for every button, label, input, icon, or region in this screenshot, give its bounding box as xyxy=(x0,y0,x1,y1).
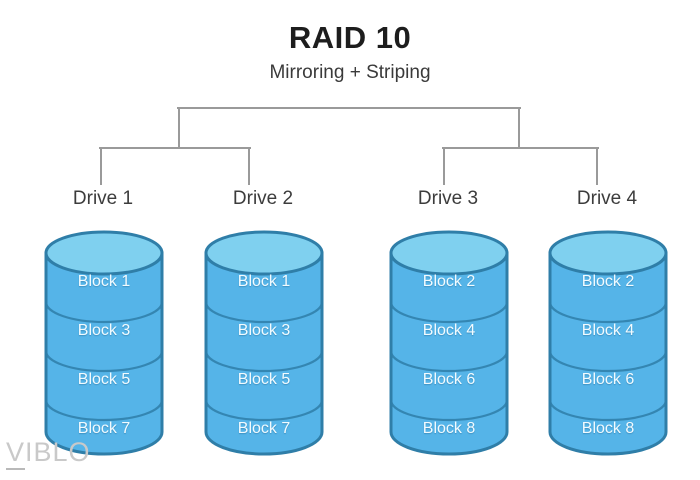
raid-diagram: RAID 10 Mirroring + Striping Drive 1 Dri… xyxy=(0,0,700,480)
diagram-subtitle: Mirroring + Striping xyxy=(0,62,700,84)
drive-cylinder-1: Block 1 Block 3 Block 5 Block 7 xyxy=(43,229,165,456)
block-label: Block 5 xyxy=(203,371,325,389)
block-label: Block 4 xyxy=(388,322,510,340)
block-label: Block 6 xyxy=(547,371,669,389)
block-label: Block 3 xyxy=(203,322,325,340)
block-label: Block 4 xyxy=(547,322,669,340)
drive-label-3: Drive 3 xyxy=(368,188,528,210)
block-label: Block 3 xyxy=(43,322,165,340)
block-label: Block 8 xyxy=(547,420,669,438)
block-label: Block 1 xyxy=(43,273,165,291)
block-label: Block 8 xyxy=(388,420,510,438)
drive-cylinder-4: Block 2 Block 4 Block 6 Block 8 xyxy=(547,229,669,456)
drive-label-4: Drive 4 xyxy=(527,188,687,210)
block-label: Block 6 xyxy=(388,371,510,389)
block-label: Block 2 xyxy=(388,273,510,291)
drive-label-2: Drive 2 xyxy=(183,188,343,210)
block-label: Block 1 xyxy=(203,273,325,291)
watermark-first-letter: V xyxy=(6,437,25,470)
watermark-rest: IBLO xyxy=(25,437,91,467)
diagram-title: RAID 10 xyxy=(0,20,700,56)
drive-cylinder-2: Block 1 Block 3 Block 5 Block 7 xyxy=(203,229,325,456)
watermark: VIBLO xyxy=(6,437,91,468)
block-label: Block 7 xyxy=(203,420,325,438)
drive-cylinder-3: Block 2 Block 4 Block 6 Block 8 xyxy=(388,229,510,456)
block-label: Block 2 xyxy=(547,273,669,291)
block-label: Block 5 xyxy=(43,371,165,389)
drive-label-1: Drive 1 xyxy=(23,188,183,210)
block-label: Block 7 xyxy=(43,420,165,438)
